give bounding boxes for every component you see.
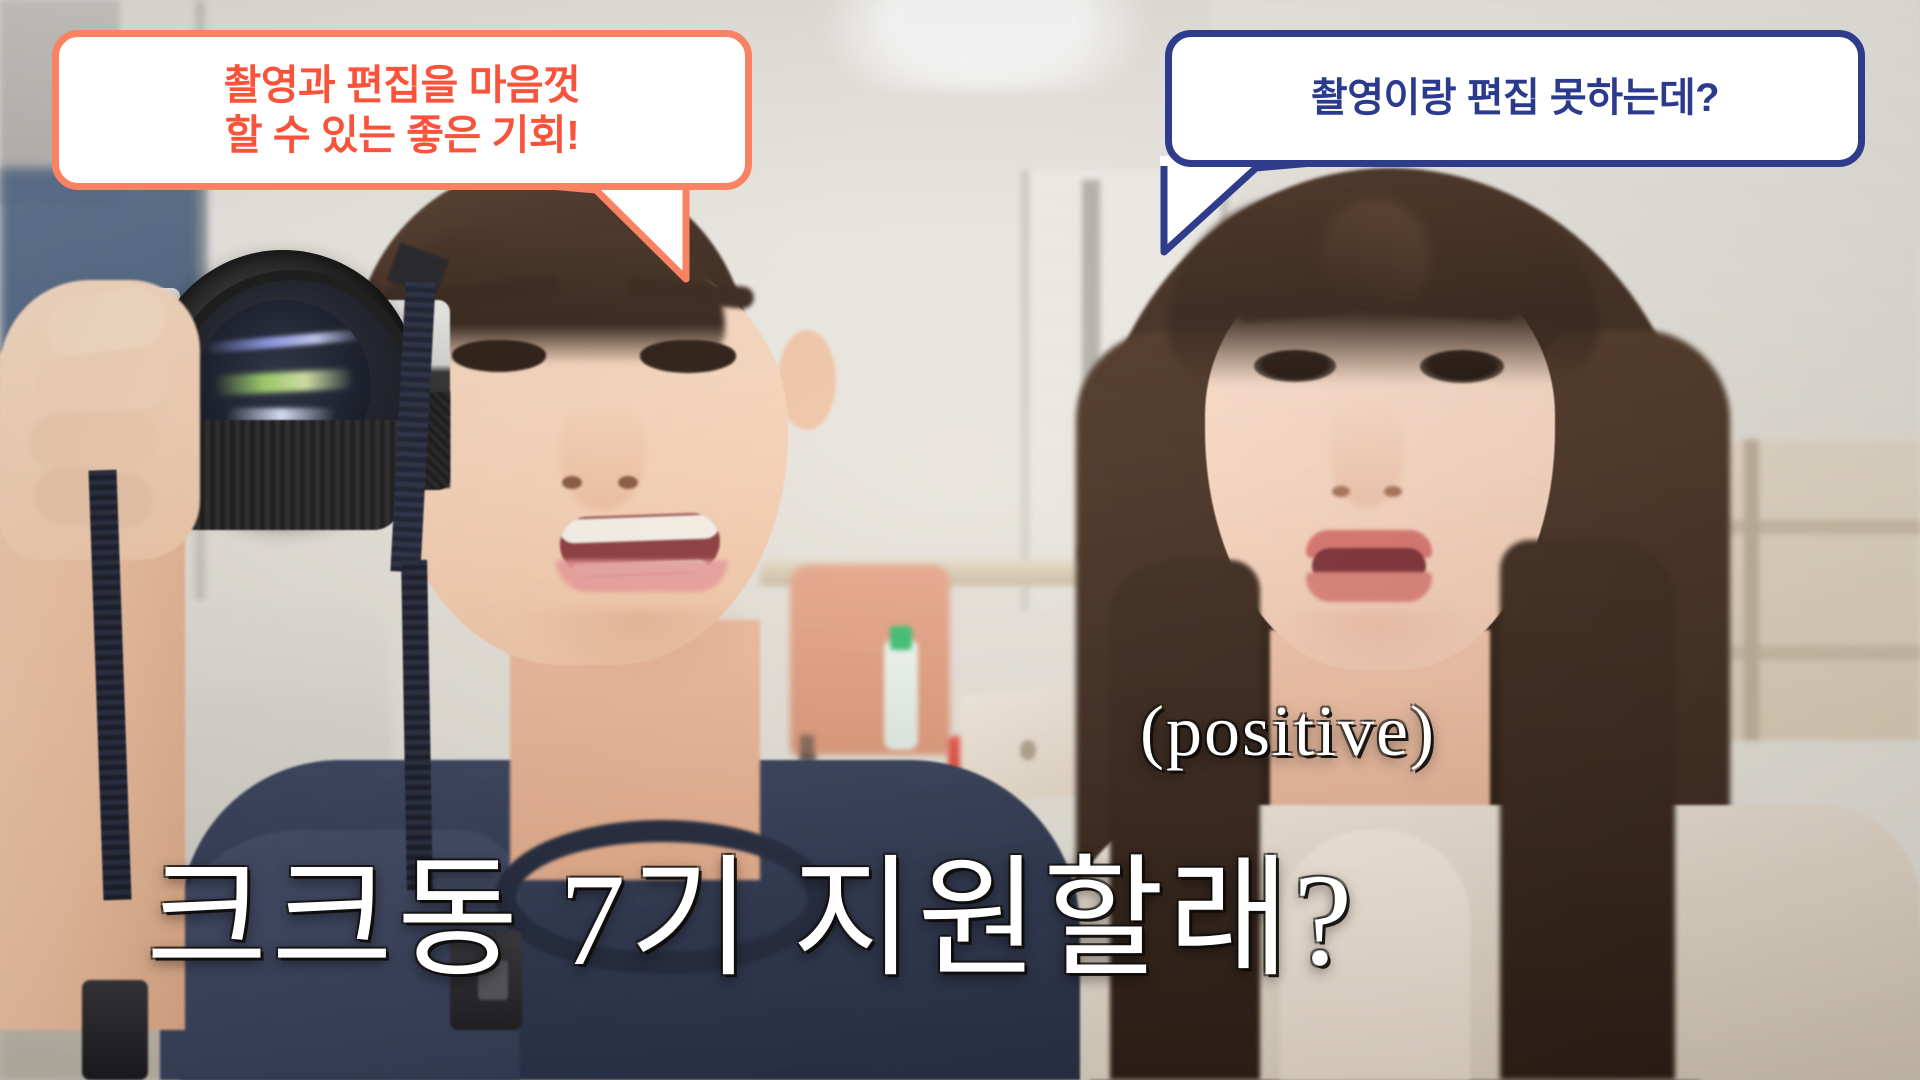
speech-bubble-left-text: 촬영과 편집을 마음껏 할 수 있는 좋은 기회! (224, 60, 581, 160)
man-eye-left (452, 340, 546, 372)
chair (790, 565, 950, 755)
water-bottle (884, 640, 918, 750)
camera-lens-barrel (170, 420, 400, 530)
lens-flare-blue (204, 329, 364, 354)
speech-bubble-right-text: 촬영이랑 편집 못하는데? (1311, 74, 1719, 123)
lens-flare-green (214, 368, 355, 395)
man-nose (560, 400, 646, 510)
woman-nostril-left (1332, 486, 1350, 497)
video-frame: K1 (positive) 크크동 7기 지원할래? 촬영과 편집을 마음껏 할… (0, 0, 1920, 1080)
speech-bubble-left: 촬영과 편집을 마음껏 할 수 있는 좋은 기회! (52, 30, 752, 190)
shelf-post (1744, 440, 1759, 740)
wooden-shelf (1700, 440, 1920, 740)
shelf-board-upper (1700, 520, 1920, 534)
woman-hair-part (1320, 198, 1430, 318)
woman-lower-lip (1306, 572, 1432, 602)
shelf-board-lower (1700, 646, 1920, 660)
man-nostril-right (618, 476, 638, 489)
bottle-cap (890, 626, 912, 650)
man-nostril-left (562, 476, 582, 489)
camera-strap-buckle-left (82, 980, 148, 1080)
man-chin-shadow (520, 610, 760, 690)
man-lower-lip (556, 560, 728, 592)
woman-chin-shadow (1280, 612, 1470, 682)
laptop-logo (1020, 740, 1036, 760)
positive-annotation-text: (positive) (1140, 690, 1436, 773)
main-title-text: 크크동 7기 지원할래? (146, 812, 1356, 1003)
woman-hair-front-right (1500, 540, 1675, 1080)
man-teeth-upper (559, 514, 720, 544)
man-finger-ring (29, 410, 161, 473)
man-eye-right (640, 340, 736, 373)
speech-bubble-right: 촬영이랑 편집 못하는데? (1165, 30, 1865, 167)
woman-nostril-right (1384, 486, 1402, 497)
